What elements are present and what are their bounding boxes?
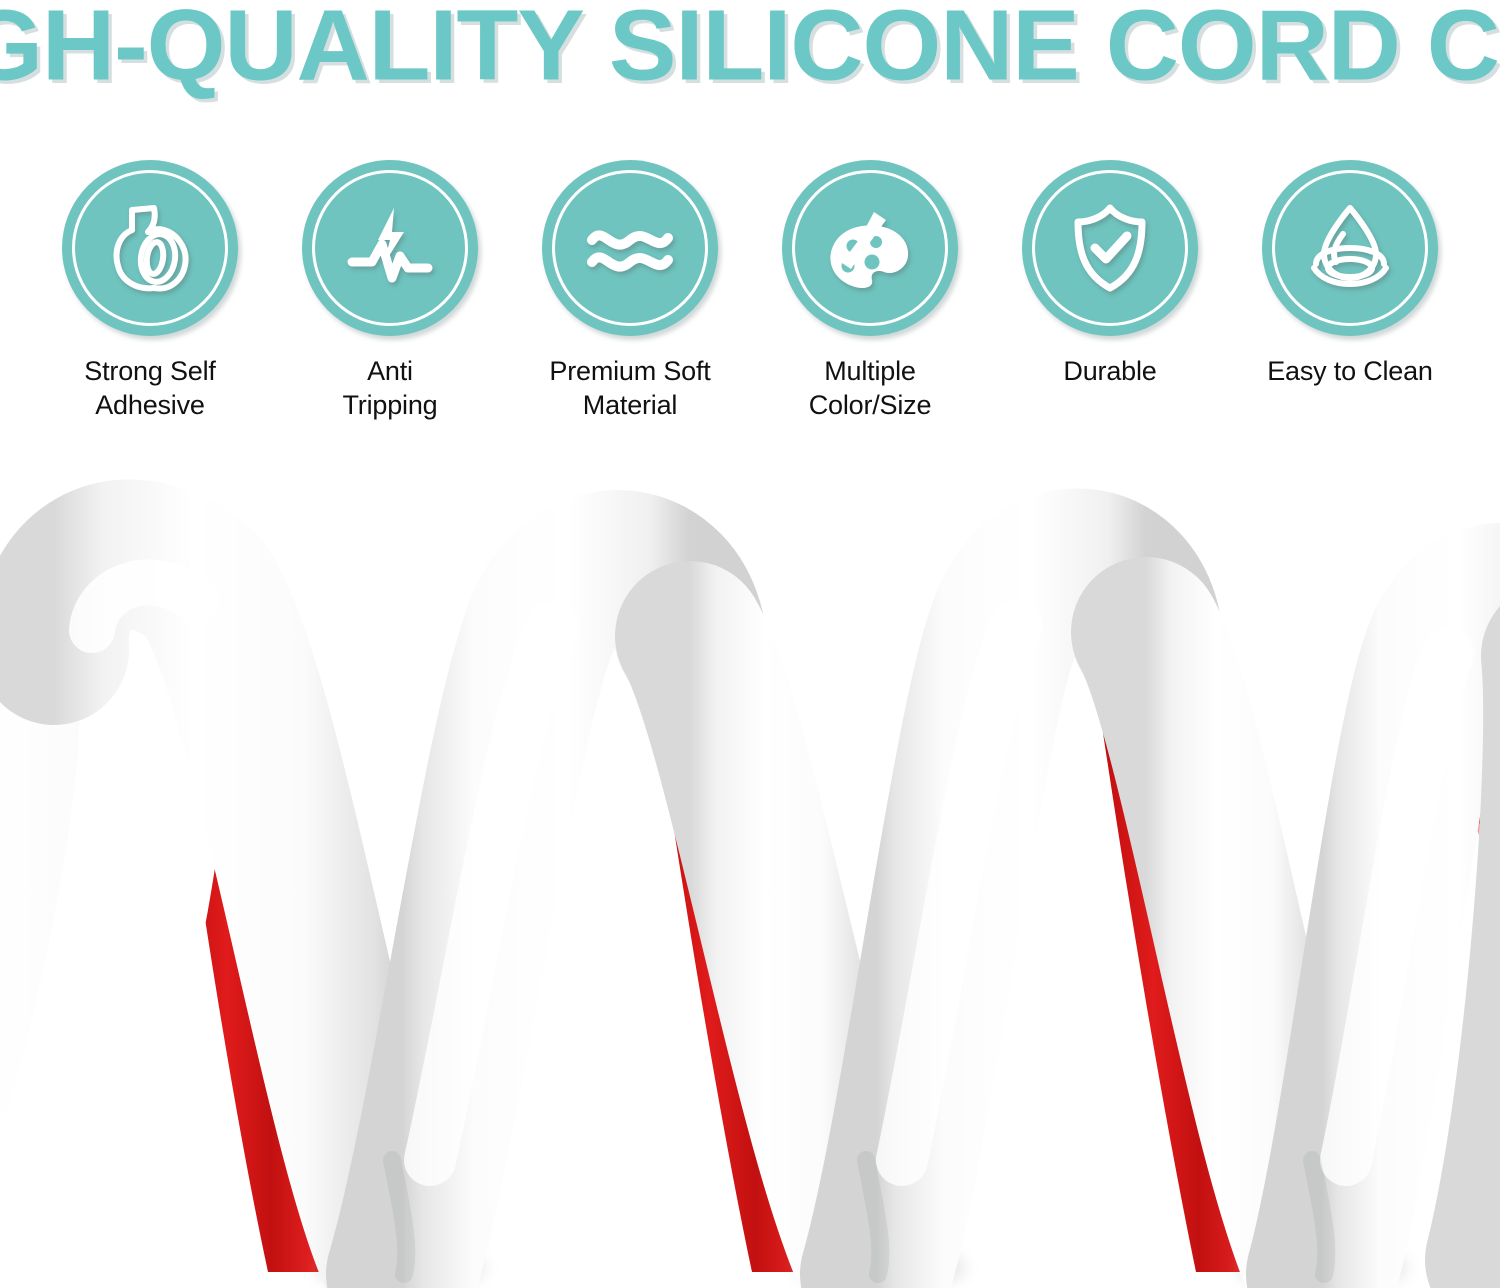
feature-label-line1: Multiple Color/Size — [809, 356, 932, 420]
feature-label-line1: Strong Self Adhesive — [84, 356, 215, 420]
feature-item-strong-self-adhesive: Strong Self Adhesive — [30, 160, 270, 422]
tape-roll-icon — [98, 196, 202, 300]
feature-label-line1: Easy to Clean — [1267, 356, 1433, 386]
page-title: HIGH-QUALITY SILICONE CORD COVER — [0, 0, 1500, 96]
cord-cover-illustration — [0, 460, 1500, 1288]
feature-item-premium-soft-material: Premium Soft Material — [510, 160, 750, 422]
water-drop-icon — [1298, 196, 1402, 300]
feature-label: Strong Self Adhesive — [84, 354, 215, 422]
feature-label-line1: Premium Soft Material — [549, 356, 710, 420]
feature-label-line1: Anti Tripping — [343, 356, 438, 420]
feature-row: Strong Self Adhesive Anti Tripping — [0, 160, 1500, 450]
feature-badge — [302, 160, 478, 336]
shield-check-icon — [1058, 196, 1162, 300]
title-bar: HIGH-QUALITY SILICONE CORD COVER — [0, 0, 1500, 95]
feature-label: Multiple Color/Size — [809, 354, 932, 422]
product-photo — [0, 460, 1500, 1288]
feature-item-anti-tripping: Anti Tripping — [270, 160, 510, 422]
feature-item-multiple-color-size: Multiple Color/Size — [750, 160, 990, 422]
feature-badge — [1262, 160, 1438, 336]
paint-palette-icon — [818, 196, 922, 300]
feature-badge — [62, 160, 238, 336]
lightning-pulse-icon — [338, 196, 442, 300]
feature-item-easy-to-clean: Easy to Clean — [1230, 160, 1470, 388]
feature-label: Durable — [1063, 354, 1156, 388]
feature-label: Premium Soft Material — [549, 354, 710, 422]
feature-label-line1: Durable — [1063, 356, 1156, 386]
feature-badge — [542, 160, 718, 336]
feature-badge — [782, 160, 958, 336]
feature-label: Easy to Clean — [1267, 354, 1433, 388]
wavy-lines-icon — [578, 196, 682, 300]
feature-label: Anti Tripping — [343, 354, 438, 422]
feature-item-durable: Durable — [990, 160, 1230, 388]
feature-badge — [1022, 160, 1198, 336]
